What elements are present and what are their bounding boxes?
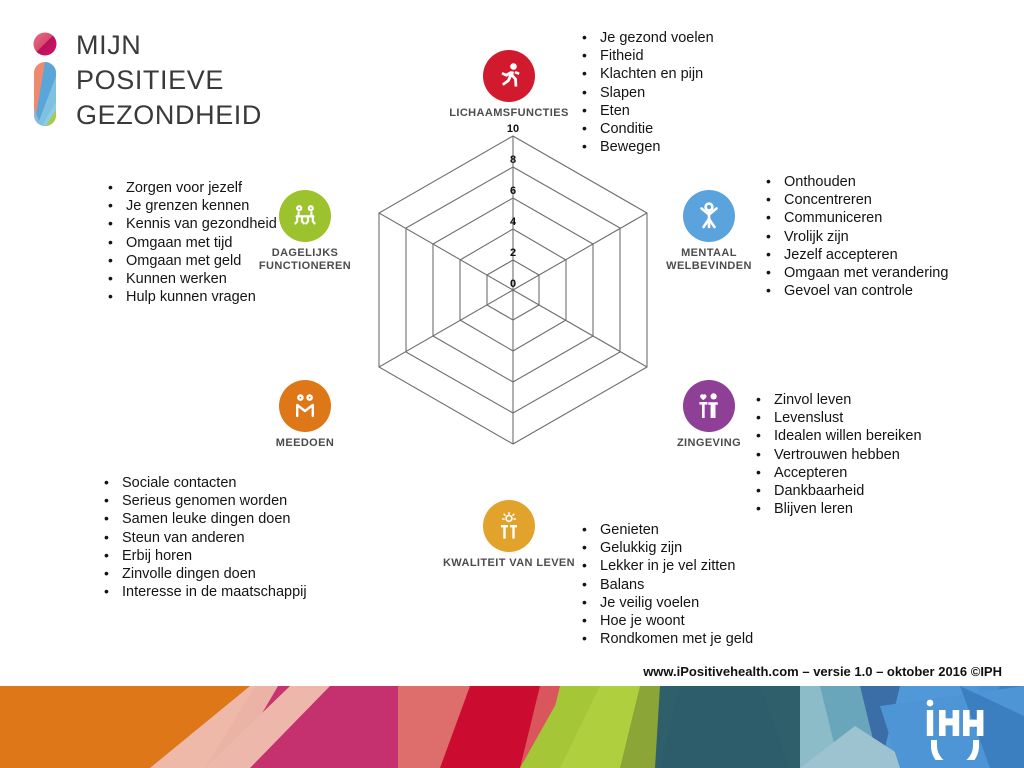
- list-item: Je grenzen kennen: [104, 197, 277, 215]
- list-item: Blijven leren: [752, 500, 922, 518]
- list-item: Gevoel van controle: [762, 282, 948, 300]
- list-item: Genieten: [578, 521, 753, 539]
- list-item: Conditie: [578, 120, 714, 138]
- tick-label-2: 2: [510, 247, 516, 259]
- list-item: Samen leuke dingen doen: [100, 510, 307, 528]
- domain-label-kwaliteit-van-leven: KWALITEIT VAN LEVEN: [434, 557, 584, 570]
- aspect-list-lichaamsfuncties: Je gezond voelen Fitheid Klachten en pij…: [578, 29, 714, 156]
- list-item: Balans: [578, 576, 753, 594]
- list-item: Eten: [578, 102, 714, 120]
- domain-kwaliteit-van-leven[interactable]: KWALITEIT VAN LEVEN: [434, 500, 584, 570]
- list-item: Onthouden: [762, 173, 948, 191]
- list-item: Zinvolle dingen doen: [100, 565, 307, 583]
- aspect-list-meedoen: Sociale contacten Serieus genomen worden…: [100, 474, 307, 601]
- person-arms-up-icon: [683, 190, 735, 242]
- tick-label-6: 6: [510, 185, 516, 197]
- list-item: Accepteren: [752, 464, 922, 482]
- brand-logo-wordmark: MIJN POSITIEVE GEZONDHEID: [76, 28, 262, 133]
- list-item: Concentreren: [762, 191, 948, 209]
- list-item: Omgaan met verandering: [762, 264, 948, 282]
- list-item: Dankbaarheid: [752, 482, 922, 500]
- aspect-list-zingeving: Zinvol leven Levenslust Idealen willen b…: [752, 391, 922, 518]
- list-item: Zinvol leven: [752, 391, 922, 409]
- list-item: Klachten en pijn: [578, 65, 714, 83]
- running-person-icon: [483, 50, 535, 102]
- aspect-list-mentaal-welbevinden: Onthouden Concentreren Communiceren Vrol…: [762, 173, 948, 300]
- tick-label-4: 4: [510, 216, 517, 228]
- list-item: Omgaan met geld: [104, 252, 277, 270]
- list-item: Steun van anderen: [100, 529, 307, 547]
- aspect-list-kwaliteit-van-leven: Genieten Gelukkig zijn Lekker in je vel …: [578, 521, 753, 648]
- footer-credit: www.iPositivehealth.com – versie 1.0 – o…: [643, 664, 1002, 679]
- list-item: Je gezond voelen: [578, 29, 714, 47]
- list-item: Hoe je woont: [578, 612, 753, 630]
- list-item: Levenslust: [752, 409, 922, 427]
- list-item: Slapen: [578, 84, 714, 102]
- logo-line-1: MIJN: [76, 28, 262, 63]
- tick-label-8: 8: [510, 154, 516, 166]
- list-item: Hulp kunnen vragen: [104, 288, 277, 306]
- iph-smile-logo-icon: [922, 698, 988, 760]
- tick-label-10: 10: [507, 123, 519, 135]
- list-item: Gelukkig zijn: [578, 539, 753, 557]
- domain-label-meedoen: MEEDOEN: [230, 437, 380, 450]
- list-item: Vrolijk zijn: [762, 228, 948, 246]
- list-item: Jezelf accepteren: [762, 246, 948, 264]
- brand-logo: MIJN POSITIEVE GEZONDHEID: [32, 30, 292, 130]
- list-item: Erbij horen: [100, 547, 307, 565]
- list-item: Kunnen werken: [104, 270, 277, 288]
- spider-web-chart[interactable]: 10 8 6 4 2 0: [352, 120, 674, 492]
- list-item: Fitheid: [578, 47, 714, 65]
- tick-label-0: 0: [510, 278, 516, 290]
- domain-label-lichaamsfuncties: LICHAAMSFUNCTIES: [434, 107, 584, 120]
- logo-line-3: GEZONDHEID: [76, 98, 262, 133]
- two-people-holding-hands-icon: [279, 380, 331, 432]
- list-item: Lekker in je vel zitten: [578, 557, 753, 575]
- list-item: Omgaan met tijd: [104, 234, 277, 252]
- aspect-list-dagelijks-functioneren: Zorgen voor jezelf Je grenzen kennen Ken…: [104, 179, 277, 306]
- poster-canvas: MIJN POSITIEVE GEZONDHEID: [0, 0, 1024, 768]
- two-people-table-icon: [279, 190, 331, 242]
- positive-health-i-logo-icon: [32, 32, 62, 128]
- list-item: Rondkomen met je geld: [578, 630, 753, 648]
- domain-lichaamsfuncties[interactable]: LICHAAMSFUNCTIES: [434, 50, 584, 120]
- list-item: Idealen willen bereiken: [752, 427, 922, 445]
- person-sun-icon: [483, 500, 535, 552]
- list-item: Sociale contacten: [100, 474, 307, 492]
- list-item: Communiceren: [762, 209, 948, 227]
- list-item: Bewegen: [578, 138, 714, 156]
- list-item: Zorgen voor jezelf: [104, 179, 277, 197]
- list-item: Vertrouwen hebben: [752, 446, 922, 464]
- domain-meedoen[interactable]: MEEDOEN: [230, 380, 380, 450]
- list-item: Serieus genomen worden: [100, 492, 307, 510]
- list-item: Je veilig voelen: [578, 594, 753, 612]
- two-people-heart-icon: [683, 380, 735, 432]
- list-item: Kennis van gezondheid: [104, 215, 277, 233]
- list-item: Interesse in de maatschappij: [100, 583, 307, 601]
- footer-color-band: [0, 686, 1024, 768]
- logo-line-2: POSITIEVE: [76, 63, 262, 98]
